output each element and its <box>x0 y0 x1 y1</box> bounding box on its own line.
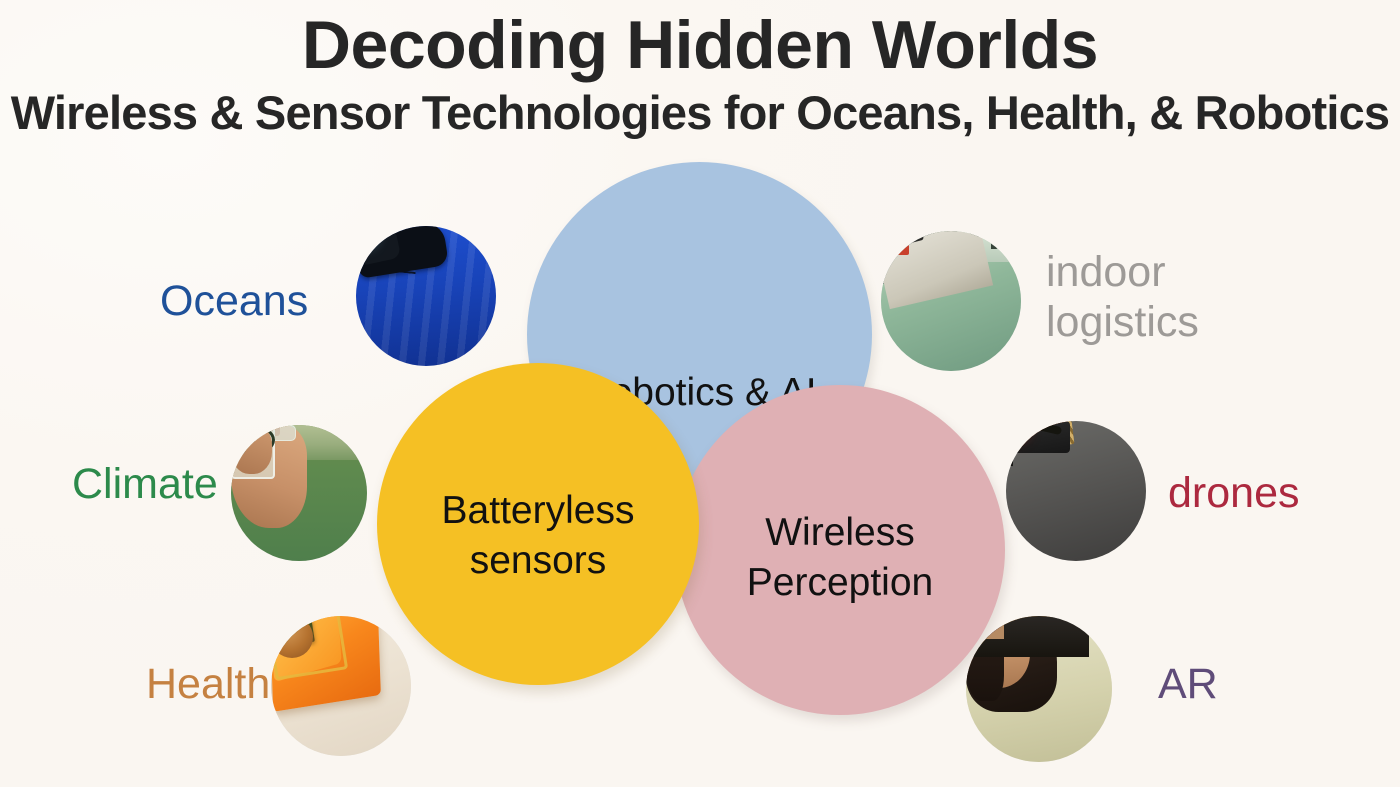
page-subtitle: Wireless & Sensor Technologies for Ocean… <box>0 86 1400 140</box>
application-label-indoor-logistics[interactable]: indoor logistics <box>1046 248 1246 348</box>
ar-headset-person-photo <box>966 616 1112 762</box>
application-label-drones[interactable]: drones <box>1168 468 1299 519</box>
venn-label-batteryless-sensors-line2: sensors <box>442 536 635 586</box>
underwater-sensor-in-hand-photo <box>231 425 367 561</box>
underwater-rov-photo <box>356 226 496 366</box>
venn-label-batteryless-sensors-line1: Batteryless <box>442 486 635 536</box>
page-title: Decoding Hidden Worlds <box>0 0 1400 84</box>
slide-canvas: Decoding Hidden Worlds Wireless & Sensor… <box>0 0 1400 787</box>
application-label-ar[interactable]: AR <box>1158 659 1218 710</box>
human-fingers <box>231 425 272 474</box>
venn-label-wireless-perception: Wireless Perception <box>747 508 933 608</box>
application-label-indoor-logistics-line2: logistics <box>1046 298 1246 348</box>
venn-circle-batteryless-sensors[interactable]: Batteryless sensors <box>377 363 699 685</box>
venn-label-batteryless-sensors: Batteryless sensors <box>442 486 635 586</box>
application-label-oceans[interactable]: Oceans <box>160 276 308 327</box>
person-neck <box>966 616 1004 639</box>
robot-arm-warehouse-photo <box>881 231 1021 371</box>
application-label-indoor-logistics-line1: indoor <box>1046 248 1246 298</box>
flexible-electronics-patch-photo <box>271 616 411 756</box>
venn-label-wireless-perception-line1: Wireless <box>747 508 933 558</box>
application-label-health[interactable]: Health <box>146 659 270 710</box>
quadcopter-drone-photo <box>1006 421 1146 561</box>
venn-circle-wireless-perception[interactable]: Wireless Perception <box>675 385 1005 715</box>
title-block: Decoding Hidden Worlds Wireless & Sensor… <box>0 0 1400 140</box>
drone-red-led-secondary-icon <box>1006 421 1015 428</box>
application-label-climate[interactable]: Climate <box>72 459 218 510</box>
penny-scale-reference <box>271 616 313 658</box>
venn-label-wireless-perception-line2: Perception <box>747 558 933 608</box>
rov-status-led-icon <box>356 226 364 234</box>
